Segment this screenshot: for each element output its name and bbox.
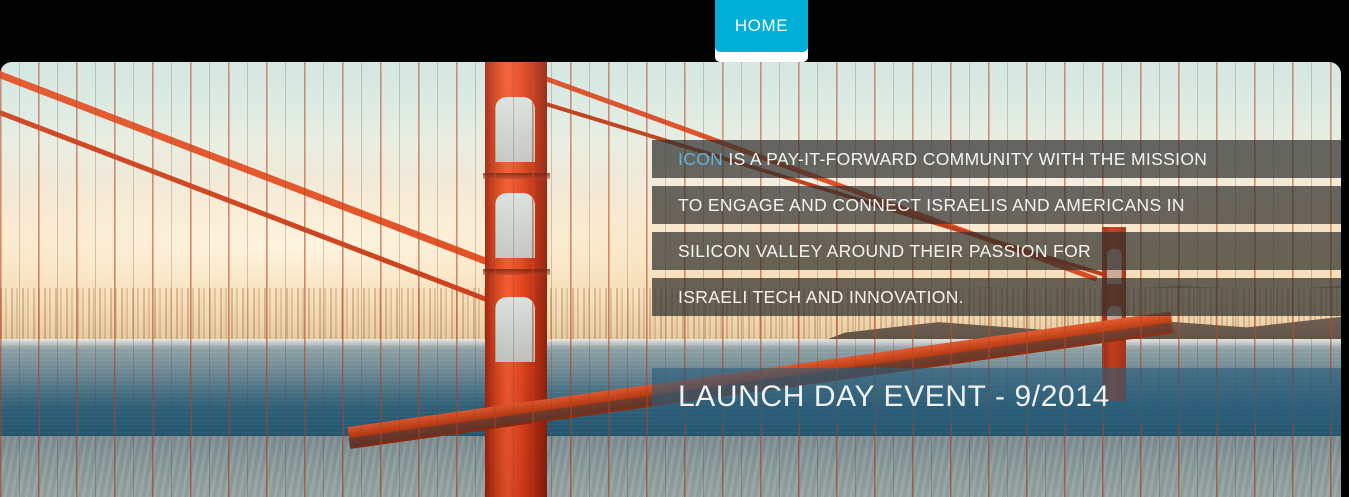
tab-home[interactable]: HOME xyxy=(715,0,808,62)
mission-line-text-2: TO ENGAGE AND CONNECT ISRAELIS AND AMERI… xyxy=(678,195,1185,216)
event-banner-title: LAUNCH DAY EVENT - 9/2014 xyxy=(678,380,1110,414)
mission-statement: ICON IS A PAY-IT-FORWARD COMMUNITY WITH … xyxy=(652,140,1341,324)
event-banner[interactable]: LAUNCH DAY EVENT - 9/2014 xyxy=(652,368,1341,425)
hero-banner: ICON IS A PAY-IT-FORWARD COMMUNITY WITH … xyxy=(0,62,1341,497)
mission-line-text-4: ISRAELI TECH AND INNOVATION. xyxy=(678,287,964,308)
tab-home-label: HOME xyxy=(735,16,788,36)
mission-line: TO ENGAGE AND CONNECT ISRAELIS AND AMERI… xyxy=(652,186,1341,224)
tab-home-surface[interactable]: HOME xyxy=(715,0,808,52)
brand-name: ICON xyxy=(678,149,723,169)
mission-line: ISRAELI TECH AND INNOVATION. xyxy=(652,278,1341,316)
mission-line: ICON IS A PAY-IT-FORWARD COMMUNITY WITH … xyxy=(652,140,1341,178)
mission-line-text-1: ICON IS A PAY-IT-FORWARD COMMUNITY WITH … xyxy=(678,149,1207,170)
top-navigation: HOME xyxy=(0,0,1349,62)
page-root: ICON IS A PAY-IT-FORWARD COMMUNITY WITH … xyxy=(0,0,1349,497)
mission-line: SILICON VALLEY AROUND THEIR PASSION FOR xyxy=(652,232,1341,270)
mission-line-rest-1: IS A PAY-IT-FORWARD COMMUNITY WITH THE M… xyxy=(723,149,1207,169)
mission-line-text-3: SILICON VALLEY AROUND THEIR PASSION FOR xyxy=(678,241,1091,262)
